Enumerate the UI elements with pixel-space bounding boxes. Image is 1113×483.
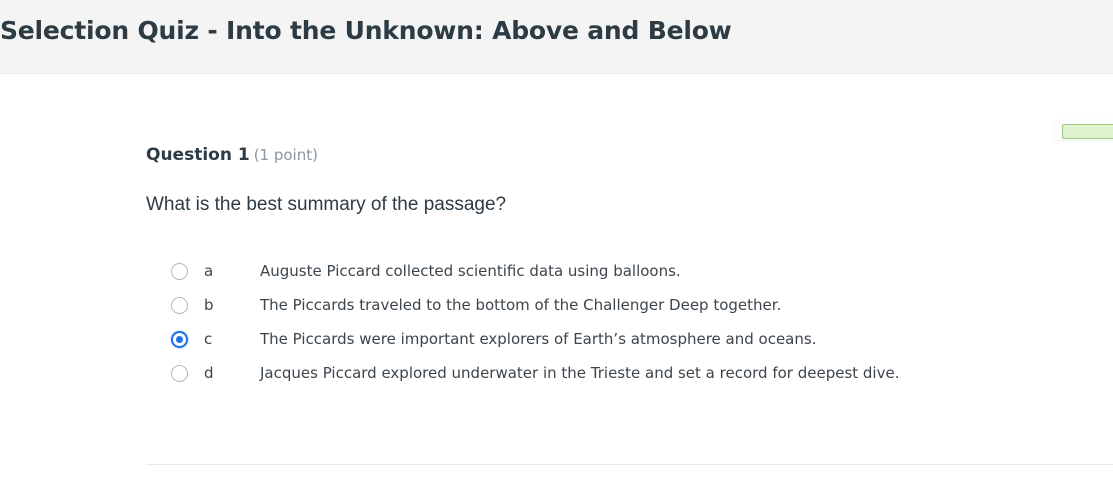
question-bottom-divider [146,464,1113,465]
answer-letter-d: d [204,360,214,386]
question-prompt: What is the best summary of the passage? [146,194,506,216]
answer-letter-b: b [204,292,214,318]
radio-icon-c[interactable] [171,331,188,348]
answer-list: a Auguste Piccard collected scientific d… [146,258,1113,394]
answer-text-c: The Piccards were important explorers of… [260,326,816,352]
question-block: Question 1(1 point) What is the best sum… [146,0,1113,483]
question-points: (1 point) [254,146,318,164]
answer-text-d: Jacques Piccard explored underwater in t… [260,360,899,386]
answer-letter-c: c [204,326,212,352]
answer-text-a: Auguste Piccard collected scientific dat… [260,258,681,284]
question-label: Question 1 [146,145,250,165]
answer-option-b[interactable]: b The Piccards traveled to the bottom of… [146,292,1113,326]
radio-icon-a[interactable] [171,263,188,280]
radio-icon-b[interactable] [171,297,188,314]
answer-letter-a: a [204,258,213,284]
answer-option-a[interactable]: a Auguste Piccard collected scientific d… [146,258,1113,292]
answer-text-b: The Piccards traveled to the bottom of t… [260,292,781,318]
question-header: Question 1(1 point) [146,145,318,165]
answer-option-d[interactable]: d Jacques Piccard explored underwater in… [146,360,1113,394]
answer-option-c[interactable]: c The Piccards were important explorers … [146,326,1113,360]
radio-icon-d[interactable] [171,365,188,382]
